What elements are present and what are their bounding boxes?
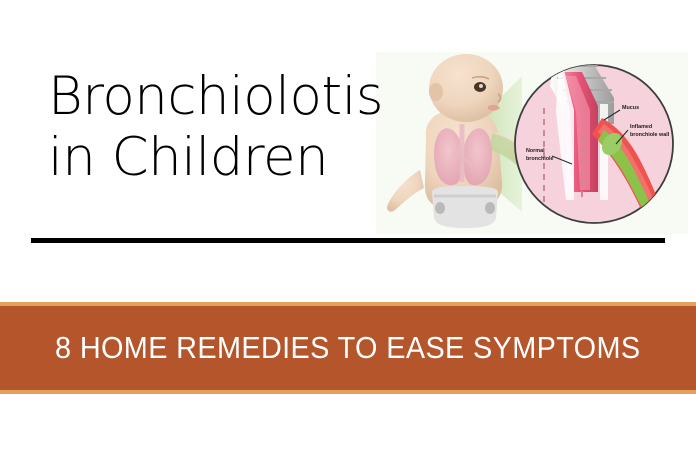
title-divider-rule (31, 238, 665, 243)
bronchiolitis-illustration: Mucus Inflamed bronchiole wall Normal br… (376, 52, 688, 234)
title-line-2: in Children (48, 127, 388, 188)
slide-canvas: Mucus Inflamed bronchiole wall Normal br… (0, 0, 696, 464)
label-inflamed-wall-2: bronchiole wall (630, 132, 670, 138)
title-line-1: Bronchiolotis (48, 66, 388, 127)
label-inflamed-wall: Inflamed (630, 124, 652, 130)
label-mucus: Mucus (622, 105, 639, 111)
subtitle-banner: 8 HOME REMEDIES TO EASE SYMPTOMS (0, 302, 696, 394)
label-normal-bronchiole-2: bronchiole (526, 156, 554, 162)
label-normal-bronchiole: Normal (526, 148, 545, 154)
subtitle-banner-text: 8 HOME REMEDIES TO EASE SYMPTOMS (55, 330, 640, 366)
page-title: Bronchiolotis in Children (48, 66, 388, 188)
